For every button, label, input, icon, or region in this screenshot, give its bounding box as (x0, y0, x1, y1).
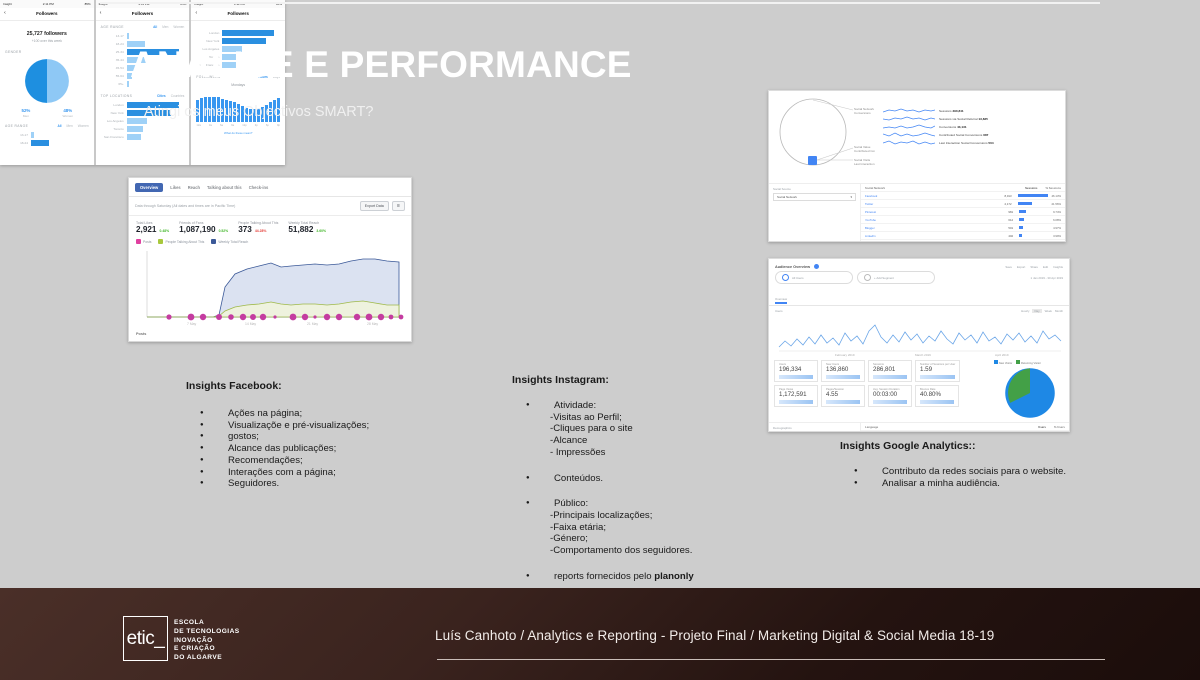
age-bar-label: 18-24 (101, 42, 127, 46)
sub-item: -Faixa etária; (550, 522, 812, 534)
facebook-stat-delta: 0.48% (160, 229, 170, 233)
age-bar (127, 33, 129, 39)
facebook-tab-bar: Overview Likes Reach Talking about this … (129, 178, 411, 197)
nav-title: Followers (227, 11, 248, 16)
facebook-stat-value: 373 (238, 225, 252, 234)
location-label: London (196, 31, 222, 35)
ga-network-name: LinkedIn (865, 234, 876, 238)
facebook-legend-label: People Talking About This (165, 240, 204, 244)
facebook-stat-value: 1,087,190 (179, 225, 215, 234)
ga-toolbar-export[interactable]: Export (1017, 265, 1025, 269)
facebook-menu-icon[interactable]: ☰ (392, 201, 405, 211)
ga-sessions: 501 (1008, 226, 1013, 230)
table-row[interactable]: en-us130,8146.13% (861, 431, 1069, 432)
hour-tick: 6a (220, 124, 223, 127)
carrier-label: Insight (3, 2, 12, 6)
ga-col-language: Language (865, 425, 878, 429)
age-bar-label: 18-24 (5, 141, 31, 145)
instagram-insights-column: Insights Instagram: Atividade: -Visitas … (512, 374, 812, 582)
facebook-stats-row: Total Likes 2,921 0.48% Friends of Fans … (129, 216, 411, 237)
svg-text:Last Interaction: Last Interaction (854, 162, 875, 166)
gender-men-label: Men (5, 114, 47, 118)
ga-pct: 6.08% (1053, 218, 1061, 222)
ga-metric-label: Contributed Social Conversions (939, 133, 982, 137)
ga-tile: Avg. Session Duration00:03:00 (868, 385, 912, 407)
location-bar-row: San Francisco (101, 133, 185, 141)
ga-sessions: 612 (1008, 218, 1013, 222)
top-divider (100, 2, 1100, 4)
facebook-stat: Total Likes 2,921 0.48% (136, 221, 169, 234)
svg-text:21 May: 21 May (307, 322, 318, 326)
table-row[interactable]: LinkedIn4023.99% (861, 232, 1065, 240)
ga-pct: 4.97% (1053, 226, 1061, 230)
table-row[interactable]: Blogger5014.97% (861, 224, 1065, 232)
ga-tile-value: 286,801 (873, 366, 907, 373)
sub-item: -Visitas ao Perfil; (550, 412, 812, 424)
age-tab-men[interactable]: Men (162, 25, 168, 29)
back-chevron-icon[interactable]: ‹ (195, 11, 197, 17)
ga-metric-row: Contributed Social Conversions 687 (883, 132, 994, 137)
list-item: Ações na página; (186, 408, 486, 420)
list-item: Visualizaçõe e pré-visualizações; (186, 420, 486, 432)
list-item: Contributo da redes sociais para o websi… (840, 466, 1140, 478)
segment-circle-icon (782, 274, 789, 281)
ga-segment-label: All Users (792, 276, 804, 280)
ga-add-segment-label: + Add Segment (874, 276, 894, 280)
chevron-down-icon: ▾ (850, 195, 852, 199)
ga-network-name: YouTube (865, 218, 876, 222)
facebook-bullet-list: Ações na página; Visualizaçõe e pré-visu… (186, 408, 486, 490)
age-bar (127, 81, 129, 87)
logo-line: DE TECNOLOGIAS (174, 628, 240, 637)
ga-users-line-chart: February 2019 March 2019 April 2019 (769, 313, 1069, 357)
google-analytics-social-screenshot: Social NetworkConversions Social ValueCo… (768, 90, 1066, 242)
ga-sessions: 311 (1009, 242, 1013, 243)
ga-col-social-network: Social Network (865, 186, 885, 190)
hour-tick: 9a (231, 124, 234, 127)
ga-tile: Pages/Session4.55 (821, 385, 865, 407)
gender-split: 52% Men 48% Women (5, 108, 89, 118)
facebook-insights-column: Insights Facebook: Ações na página; Visu… (186, 380, 486, 490)
svg-text:14 May: 14 May (245, 322, 256, 326)
ga-metric-label: Sessions (939, 109, 952, 113)
clock-label: 2:11 PM (43, 2, 54, 6)
etic-logo-subtitle: ESCOLA DE TECNOLOGIAS INOVAÇÃO E CRIAÇÃO… (174, 619, 240, 663)
list-item: Recomendações; (186, 455, 486, 467)
ga-tile-value: 40.80% (920, 391, 954, 398)
phone-nav-bar: ‹ Followers (96, 8, 190, 21)
legend-swatch-icon (158, 239, 163, 244)
age-range-section-label: AGE RANGE (101, 25, 124, 29)
gender-women: 48% Women (47, 108, 89, 118)
age-bar (31, 132, 34, 138)
ga-metric-label: Conversions (939, 125, 956, 129)
facebook-legend-item: Posts (136, 239, 151, 244)
facebook-stat-value: 2,921 (136, 225, 157, 234)
table-row[interactable]: Google+3113.09% (861, 240, 1065, 242)
ga-toolbar-edit[interactable]: Edit (1043, 265, 1048, 269)
ga-tile-value: 00:03:00 (873, 391, 907, 398)
etic-logo: etic_ (123, 616, 168, 661)
facebook-tab-overview[interactable]: Overview (135, 183, 163, 192)
facebook-tab-check-ins[interactable]: Check-ins (249, 185, 269, 190)
age-bar-label: 65+ (101, 82, 127, 86)
facebook-area-chart: 7 May14 May 21 May28 May (135, 247, 405, 331)
reports-prefix: reports fornecidos pelo (554, 571, 654, 582)
ga-toolbar-insights[interactable]: Insights (1053, 265, 1063, 269)
facebook-export-data-button[interactable]: Export Data (360, 201, 389, 211)
ga-network-name: Facebook (865, 194, 877, 198)
etic-logo-word: etic_ (127, 628, 165, 650)
ga-tile-value: 196,334 (779, 366, 813, 373)
ga-social-flow-diagram: Social NetworkConversions Social ValueCo… (775, 96, 875, 181)
facebook-stat: Weekly Total Reach 51,882 3.60% (288, 221, 326, 234)
ga-tile-value: 4.55 (826, 391, 860, 398)
facebook-column-title: Insights Facebook: (186, 380, 486, 392)
hour-tick: 9p (277, 124, 280, 127)
ga-social-source-select[interactable]: Social Network ▾ (773, 193, 856, 201)
ga-pct: 3.99% (1053, 234, 1061, 238)
location-label: Toronto (101, 127, 127, 131)
logo-line: INOVAÇÃO (174, 637, 240, 646)
ga-sessions: 402 (1008, 234, 1013, 238)
footer-credit-line: Luís Canhoto / Analytics e Reporting - P… (435, 628, 994, 643)
location-bar (127, 134, 141, 140)
instagram-column-title: Insights Instagram: (512, 374, 812, 386)
google-analytics-audience-screenshot: Audience Overview Save Export Share Edit… (768, 258, 1070, 432)
ga-tile: Number of Sessions per User1.59 (915, 360, 960, 382)
info-icon[interactable] (814, 264, 819, 269)
age-bar-label: 25-34 (101, 50, 127, 54)
hour-tick: 12a (196, 124, 200, 127)
what-do-these-mean-link[interactable]: What do these mean? (196, 131, 280, 135)
location-bar (127, 126, 143, 132)
ga-network-name: Pinterest (865, 210, 876, 214)
nav-title: Followers (132, 11, 153, 16)
hour-tick: 3a (209, 124, 212, 127)
age-tab-women[interactable]: Women (78, 124, 89, 128)
list-item: Seguidores. (186, 478, 486, 490)
location-label: New York (196, 39, 222, 43)
facebook-stat: People Talking About This 373 44.28% (238, 221, 278, 234)
ga-col-pct-users: % Users (1054, 425, 1065, 429)
table-row[interactable]: Twitter2,17221.56% (861, 200, 1065, 208)
facebook-stat-delta: 44.28% (255, 229, 267, 233)
analytics-insights-column: Insights Google Analytics:: Contributo d… (840, 440, 1140, 489)
ga-tab-overview[interactable]: Overview (775, 297, 787, 304)
age-range-bars-partial: 13-17 18-24 (5, 131, 89, 147)
ga-col-sessions: Sessions (1025, 186, 1037, 190)
ga-pct: 3.09% (1053, 242, 1061, 243)
facebook-subbar: Data through Saturday (All dates and tim… (129, 197, 411, 216)
loc-tab-cities[interactable]: Cities (157, 94, 166, 98)
location-label: Los Angeles (101, 119, 127, 123)
battery-label: 85% (85, 2, 91, 6)
ga-metric-list: Sessions 290,841 Sessions via Social Ref… (883, 96, 994, 181)
ga-metric-row: Last Interaction Social Conversions 504 (883, 140, 994, 145)
location-label: London (101, 103, 127, 107)
svg-text:Contributed Conversions: Contributed Conversions (854, 149, 875, 153)
ga-network-name: Google+ (865, 242, 876, 243)
ga-metric-label: Last Interaction Social Conversions (939, 141, 988, 145)
age-bar-label: 35-44 (101, 58, 127, 62)
ga-tile: New Users136,860 (821, 360, 865, 382)
gender-women-pct: 48% (47, 108, 89, 113)
sub-item: -Comportamento dos seguidores. (550, 545, 812, 557)
location-label: San Francisco (101, 135, 127, 139)
ga-metric-label: Sessions via Social Referral (939, 117, 978, 121)
nav-title: Followers (36, 11, 57, 16)
instagram-bullet-list: Atividade: (512, 400, 812, 412)
ga-visitor-type-pie: New Visitor Returning Visitor (991, 357, 1069, 422)
facebook-stat-delta: 3.60% (316, 229, 326, 233)
followers-hour-axis: 12a 3a 6a 9a 12p 3p 6p 9p (196, 124, 280, 127)
ga-pct: 21.56% (1052, 202, 1062, 206)
ga-granularity-month[interactable]: Month (1055, 309, 1063, 313)
ga-table-header: Social Network Sessions % Sessions (861, 184, 1065, 192)
back-chevron-icon[interactable]: ‹ (4, 11, 6, 17)
ga-segment-all-users[interactable]: All Users (775, 271, 853, 284)
list-item: reports fornecidos pelo planonly (512, 571, 812, 583)
instagram-bullet-list-3: Público: (512, 498, 812, 510)
facebook-tab-likes[interactable]: Likes (170, 185, 180, 190)
ga-granularity-hourly[interactable]: Hourly (1021, 309, 1029, 313)
ga-metric-value: 13,835 (978, 117, 987, 121)
ga-metric-value: 687 (983, 133, 988, 137)
sub-item: -Cliques para o site (550, 423, 812, 435)
table-row[interactable]: Pinterest9819.74% (861, 208, 1065, 216)
sub-item: -Alcance (550, 435, 812, 447)
ga-chart-legend: Users (775, 309, 783, 313)
phone-content: London New York Los Angeles Toronto San … (191, 21, 285, 165)
legend-swatch-icon (136, 239, 141, 244)
ga-toolbar-share[interactable]: Share (1030, 265, 1038, 269)
ga-tile: Sessions286,801 (868, 360, 912, 382)
ga-metric-row: Sessions 290,841 (883, 108, 994, 113)
sub-item: - Impressões (550, 447, 812, 459)
ga-metric-row: Conversions 43,131 (883, 124, 994, 129)
facebook-stat-value: 51,882 (288, 225, 313, 234)
pie-legend-returning: Returning Visitor (1016, 360, 1041, 365)
facebook-actions: Export Data ☰ (360, 201, 405, 211)
list-item: Público: (512, 498, 812, 510)
age-bar-row: 13-17 (101, 32, 185, 40)
ga-sessions: 2,172 (1005, 202, 1012, 206)
gender-section-label: GENDER (5, 50, 89, 54)
age-tab-women[interactable]: Women (173, 25, 184, 29)
facebook-tab-reach[interactable]: Reach (188, 185, 200, 190)
facebook-legend-label: Posts (143, 240, 151, 244)
planonly-label: planonly (654, 571, 693, 582)
location-bar (222, 30, 274, 36)
location-bar-row: Toronto (101, 125, 185, 133)
back-chevron-icon[interactable]: ‹ (100, 11, 102, 17)
svg-text:Conversions: Conversions (854, 111, 871, 115)
facebook-legend-item: People Talking About This (158, 239, 204, 244)
ga-social-source-label: Social Source (773, 187, 856, 191)
ga-pct: 46.13% (1052, 194, 1062, 198)
instagram-audience-sublist: -Principais localizações; -Faixa etária;… (512, 510, 812, 557)
age-tab-men[interactable]: Men (67, 124, 73, 128)
ga-date-range[interactable]: 1 Jan 2019 - 30 Apr 2019 (1031, 276, 1063, 280)
facebook-stat-delta: 0.52% (219, 229, 229, 233)
table-row[interactable]: YouTube6126.08% (861, 216, 1065, 224)
ga-sessions: 8,013 (1005, 194, 1012, 198)
ga-tile-value: 136,860 (826, 366, 860, 373)
table-row[interactable]: Facebook8,01346.13% (861, 192, 1065, 200)
legend-swatch-icon (211, 239, 216, 244)
svg-text:28 May: 28 May (367, 322, 378, 326)
instagram-bullet-list-2: Conteúdos. (512, 473, 812, 485)
ga-social-source-value: Social Network (777, 195, 797, 199)
instagram-bullet-list-4: reports fornecidos pelo planonly (512, 571, 812, 583)
ga-toolbar-save[interactable]: Save (1005, 265, 1012, 269)
instagram-phone-1: Insight 2:11 PM 85% ‹ Followers 25,727 f… (0, 0, 94, 165)
ga-metric-row: Sessions via Social Referral 13,835 (883, 116, 994, 121)
list-item: Conteúdos. (512, 473, 812, 485)
facebook-legend-label: Weekly Total Reach (218, 240, 248, 244)
legend-swatch-icon (1016, 360, 1020, 364)
hour-tick: 3p (255, 124, 258, 127)
page-subtitle: Atingi os meus Objectivos SMART? (144, 104, 373, 120)
age-bar-label: 55-64 (101, 74, 127, 78)
logo-line: DO ALGARVE (174, 654, 240, 663)
ga-metric-value: 43,131 (957, 125, 966, 129)
svg-text:7 May: 7 May (187, 322, 197, 326)
phone-content: AGE RANGE All Men Women 13-17 18-24 25-3… (96, 21, 190, 165)
ga-sessions: 981 (1008, 210, 1013, 214)
sub-item: -Género; (550, 533, 812, 545)
top-locations-section-label: TOP LOCATIONS (101, 94, 133, 98)
ga-metric-value: 290,841 (952, 109, 963, 113)
followers-delta: +100 over this week (5, 39, 89, 43)
gender-women-label: Women (47, 114, 89, 118)
ga-network-name: Blogger (865, 226, 875, 230)
ga-col-pct-sessions: % Sessions (1045, 186, 1061, 190)
ga-metric-value: 504 (988, 141, 993, 145)
ga-granularity-week[interactable]: Week (1045, 309, 1052, 313)
facebook-stat: Friends of Fans 1,087,190 0.52% (179, 221, 228, 234)
list-item: Interações com a página; (186, 467, 486, 479)
list-item: Atividade: (512, 400, 812, 412)
age-bar-label: 13-17 (101, 34, 127, 38)
phone-nav-bar: ‹ Followers (191, 8, 285, 21)
ga-col-users: Users (1038, 425, 1046, 429)
legend-swatch-icon (994, 360, 998, 364)
phone-status-bar: Insight 2:11 PM 85% (0, 0, 94, 8)
age-tab-all[interactable]: All (57, 124, 61, 128)
logo-line: E CRIAÇÃO (174, 645, 240, 654)
age-bar (31, 140, 49, 146)
sub-item: -Principais localizações; (550, 510, 812, 522)
facebook-tab-talking-about-this[interactable]: Talking about this (207, 185, 242, 190)
ga-add-segment[interactable]: + Add Segment (857, 271, 935, 284)
gender-pie-chart (5, 58, 89, 104)
ga-audience-title: Audience Overview (775, 265, 810, 269)
gender-men: 52% Men (5, 108, 47, 118)
hour-tick: 12p (242, 124, 246, 127)
facebook-posts-label: Posts (129, 331, 411, 337)
list-item: Alcance das publicações; (186, 443, 486, 455)
page-title: ANÁLISE E PERFORMANCE (130, 44, 632, 86)
logo-line: ESCOLA (174, 619, 240, 628)
ga-pct: 9.74% (1053, 210, 1061, 214)
pie-legend-new: New Visitor (994, 360, 1012, 365)
ga-granularity-day[interactable]: Day (1032, 309, 1041, 313)
facebook-data-note: Data through Saturday (All dates and tim… (135, 204, 235, 208)
facebook-legend-item: Weekly Total Reach (211, 239, 248, 244)
facebook-insights-screenshot: Overview Likes Reach Talking about this … (128, 177, 412, 342)
list-item: Analisar a minha audiência. (840, 478, 1140, 490)
analytics-bullet-list: Contributo da redes sociais para o websi… (840, 466, 1140, 489)
instagram-activity-sublist: -Visitas ao Perfil; -Cliques para o site… (512, 412, 812, 459)
loc-tab-countries[interactable]: Countries (171, 94, 185, 98)
hour-tick: 6p (266, 124, 269, 127)
footer-divider (437, 659, 1105, 660)
analytics-column-title: Insights Google Analytics:: (840, 440, 1140, 452)
location-label: New York (101, 111, 127, 115)
age-tab-all[interactable]: All (153, 25, 157, 29)
age-bar-label: 13-17 (5, 133, 31, 137)
followers-count: 25,727 followers (5, 31, 89, 37)
phone-nav-bar: ‹ Followers (0, 8, 94, 21)
gender-men-pct: 52% (5, 108, 47, 113)
location-bar-row: London (196, 29, 280, 37)
facebook-chart-legend: Posts People Talking About This Weekly T… (129, 237, 411, 247)
ga-tile: Bounce Rate40.80% (915, 385, 959, 407)
plus-circle-icon (864, 274, 871, 281)
age-range-section-label: AGE RANGE (5, 124, 28, 128)
ga-tile-value: 1.59 (920, 366, 955, 373)
ga-network-name: Twitter (865, 202, 873, 206)
ga-table-header: Language Users % Users (861, 423, 1069, 431)
phone-content: 25,727 followers +100 over this week GEN… (0, 21, 94, 165)
age-bar-label: 45-54 (101, 66, 127, 70)
list-item: gostos; (186, 431, 486, 443)
